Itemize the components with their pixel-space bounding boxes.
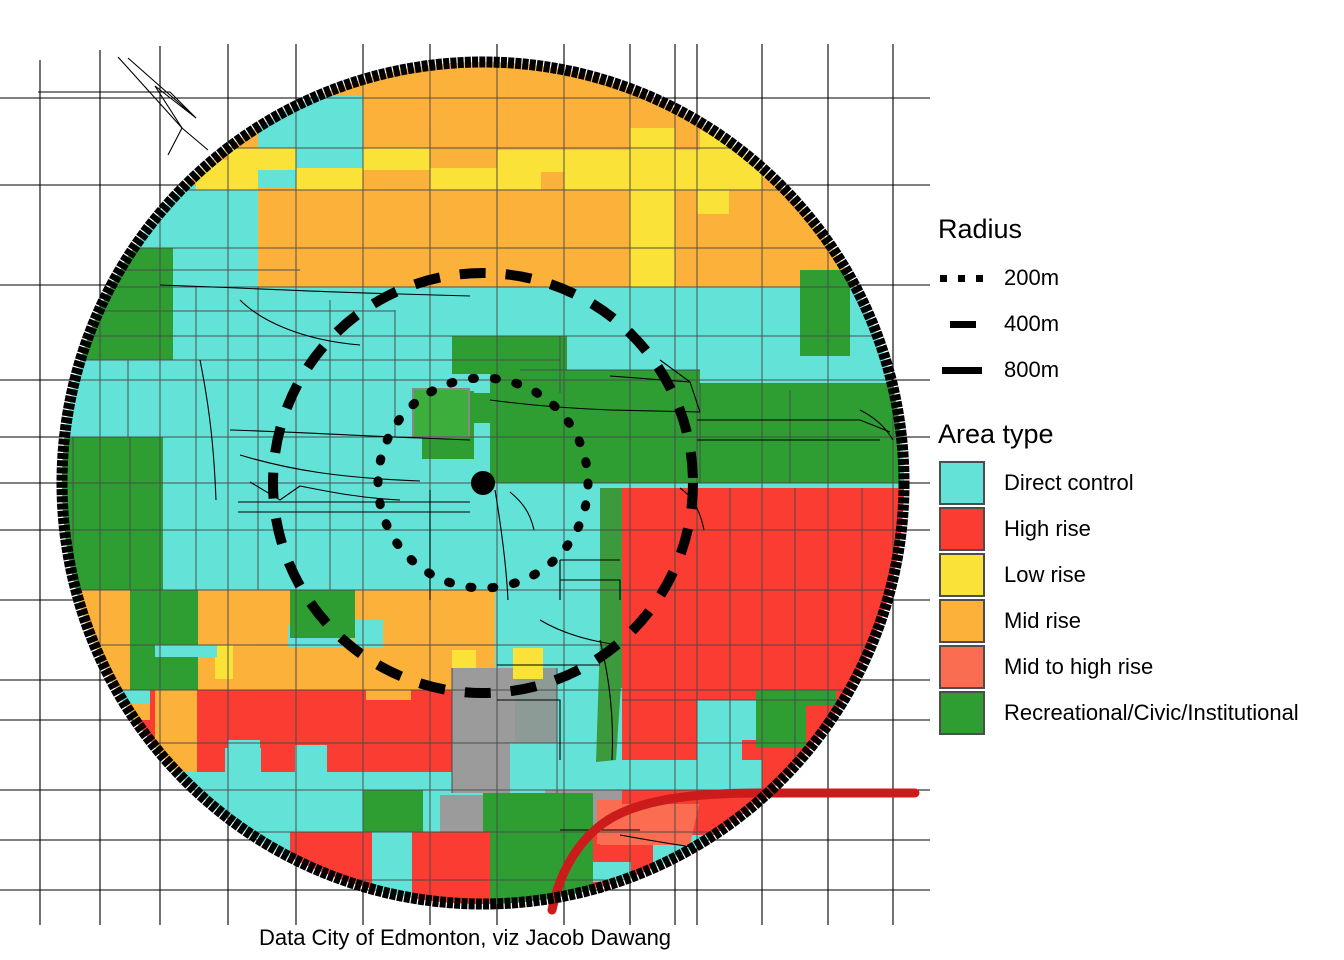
legend-item-mid-to-high-rise[interactable]: Mid to high rise (930, 644, 1344, 690)
parcel-other (440, 795, 488, 835)
legend-item-recreational[interactable]: Recreational/Civic/Institutional (930, 690, 1344, 736)
color-swatch (939, 691, 985, 735)
legend-label-mid-to-high-rise: Mid to high rise (1004, 654, 1153, 680)
parcel-recreational (756, 690, 836, 706)
parcel-direct-control (225, 748, 261, 772)
color-swatch (939, 461, 985, 505)
color-swatch (939, 507, 985, 551)
legend-label-400m: 400m (1004, 311, 1059, 337)
parcel-recreational (130, 590, 198, 690)
parcel-low-rise (363, 148, 430, 170)
dotted-line-icon (938, 255, 986, 301)
parcel-direct-control (295, 745, 327, 772)
parcel-recreational (756, 700, 806, 748)
legend-label-low-rise: Low rise (1004, 562, 1086, 588)
parcel-low-rise (564, 150, 630, 190)
legend-radius-title: Radius (938, 214, 1344, 245)
parcel-recreational (800, 270, 850, 356)
parcel-recreational-small (413, 389, 469, 437)
legend-label-direct-control: Direct control (1004, 470, 1134, 496)
legend-label-800m: 800m (1004, 357, 1059, 383)
legend-radius-block: Radius 200m 400m 800m (930, 214, 1344, 393)
swatch-recreational (938, 690, 986, 736)
parcel-recreational (363, 790, 423, 832)
swatch-direct-control (938, 460, 986, 506)
dashed-line-icon (938, 301, 986, 347)
parcel-low-rise (697, 190, 729, 214)
legend-item-high-rise[interactable]: High rise (930, 506, 1344, 552)
parcel-low-rise (497, 172, 541, 190)
legend-item-low-rise[interactable]: Low rise (930, 552, 1344, 598)
legend-label-mid-rise: Mid rise (1004, 608, 1081, 634)
parcel-low-rise (215, 645, 233, 679)
legend-item-radius-200m[interactable]: 200m (930, 255, 1344, 301)
parcel-low-rise (630, 128, 675, 190)
legend-item-mid-rise[interactable]: Mid rise (930, 598, 1344, 644)
solid-line-icon (938, 347, 986, 393)
parcel-low-rise (228, 148, 296, 170)
map-canvas[interactable] (0, 0, 930, 925)
parcel-low-rise (497, 150, 564, 172)
parcel-recreational (105, 437, 163, 595)
parcel-low-rise (655, 190, 675, 287)
parcel-recreational (452, 336, 567, 374)
parcel-other (515, 668, 557, 743)
zoning-map-svg[interactable] (0, 0, 930, 925)
color-swatch (939, 553, 985, 597)
swatch-high-rise (938, 506, 986, 552)
legend: Radius 200m 400m 800m Area (930, 214, 1344, 754)
legend-area-type-block: Area type Direct control High rise Low r… (930, 419, 1344, 736)
zoning-map-page: Zoning around MacEwan Arts/112 Street LR… (0, 0, 1344, 960)
color-swatch (939, 645, 985, 689)
station-marker[interactable] (471, 471, 495, 495)
swatch-low-rise (938, 552, 986, 598)
legend-item-radius-400m[interactable]: 400m (930, 301, 1344, 347)
swatch-mid-rise (938, 598, 986, 644)
legend-item-direct-control[interactable]: Direct control (930, 460, 1344, 506)
parcel-low-rise (452, 650, 476, 668)
parcel-low-rise (513, 648, 543, 664)
legend-label-200m: 200m (1004, 265, 1059, 291)
color-swatch (939, 599, 985, 643)
swatch-mid-to-high-rise (938, 644, 986, 690)
legend-label-high-rise: High rise (1004, 516, 1091, 542)
parcel-low-rise (296, 168, 363, 190)
legend-area-type-title: Area type (938, 419, 1344, 450)
parcel-direct-control (228, 740, 260, 750)
legend-label-recreational: Recreational/Civic/Institutional (1004, 700, 1299, 726)
parcel-low-rise (430, 168, 497, 190)
parcel-other (452, 743, 510, 793)
parcel-direct-control (155, 645, 217, 657)
source-caption: Data City of Edmonton, viz Jacob Dawang (0, 925, 930, 951)
parcel-direct-control (697, 740, 742, 770)
parcel-direct-control (355, 620, 383, 648)
legend-item-radius-800m[interactable]: 800m (930, 347, 1344, 393)
